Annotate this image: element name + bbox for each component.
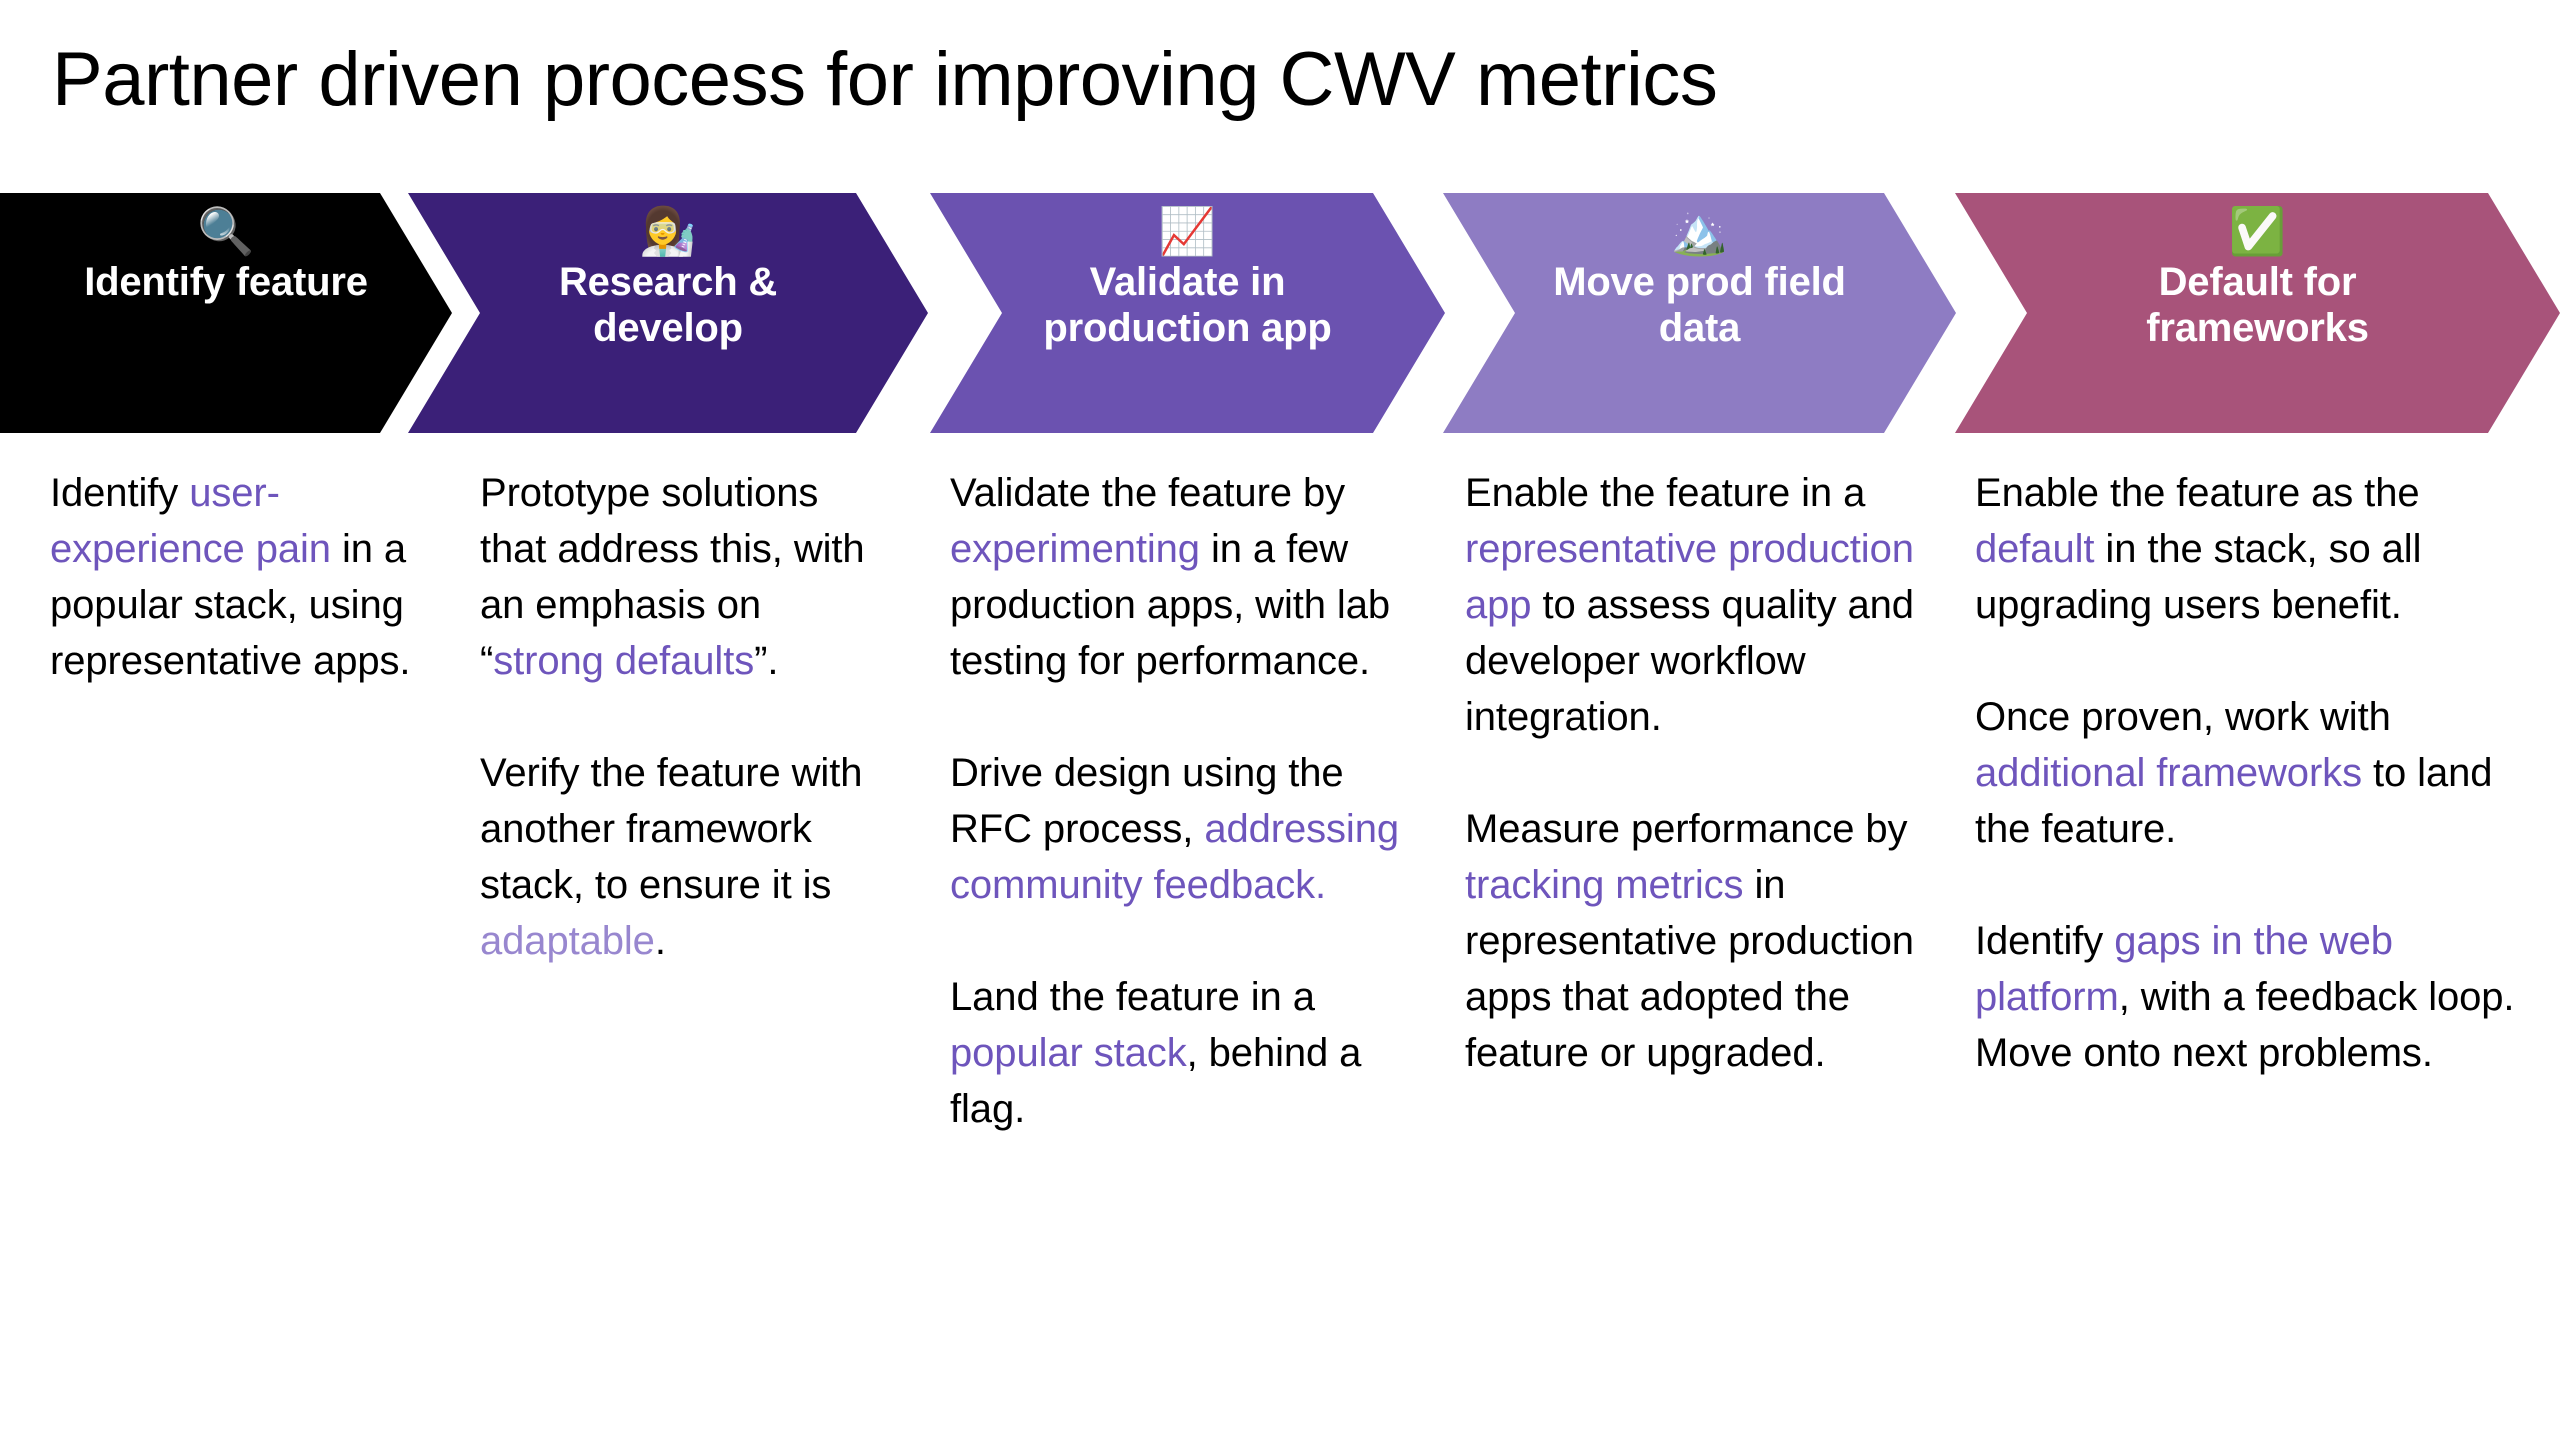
description-column-default-for-frameworks: Enable the feature as the default in the… <box>1975 465 2520 1081</box>
description-paragraph: Validate the feature by experimenting in… <box>950 465 1430 689</box>
magnifying-glass-icon: 🔍 <box>197 205 254 257</box>
process-step-label: Research & develop <box>503 259 833 351</box>
description-paragraph: Identify gaps in the web platform, with … <box>1975 913 2520 1081</box>
highlight-text: tracking metrics <box>1465 863 1743 907</box>
snow-capped-mountain-icon: 🏔️ <box>1671 205 1728 257</box>
body-text: Land the feature in a <box>950 975 1315 1019</box>
body-text: to assess quality and developer workflow… <box>1465 583 1914 739</box>
description-column-identify-feature: Identify user-experience pain in a popul… <box>50 465 460 689</box>
process-step-move-prod-field-data[interactable]: 🏔️Move prod field data <box>1443 193 1956 433</box>
body-text: Measure performance by <box>1465 807 1907 851</box>
process-step-label: Default for frameworks <box>2093 259 2423 351</box>
check-mark-button-icon: ✅ <box>2229 205 2286 257</box>
process-step-label: Identify feature <box>74 259 378 305</box>
woman-scientist-icon: 👩‍🔬 <box>639 205 696 257</box>
description-paragraph: Land the feature in a popular stack, beh… <box>950 969 1430 1137</box>
description-paragraph: Enable the feature in a representative p… <box>1465 465 1925 745</box>
process-step-label: Move prod field data <box>1535 259 1865 351</box>
slide-root: Partner driven process for improving CWV… <box>0 0 2560 1440</box>
process-step-validate-in-production-app[interactable]: 📈Validate in production app <box>930 193 1445 433</box>
process-chevron-band: 🔍Identify feature👩‍🔬Research & develop📈V… <box>0 193 2560 433</box>
description-paragraph: Identify user-experience pain in a popul… <box>50 465 460 689</box>
body-text: Validate the feature by <box>950 471 1345 515</box>
highlight-text-light: adaptable <box>480 919 655 963</box>
body-text: Enable the feature in a <box>1465 471 1865 515</box>
description-paragraph: Once proven, work with additional framew… <box>1975 689 2520 857</box>
description-paragraph: Measure performance by tracking metrics … <box>1465 801 1925 1081</box>
process-step-default-for-frameworks[interactable]: ✅Default for frameworks <box>1955 193 2560 433</box>
body-text: Once proven, work with <box>1975 695 2391 739</box>
description-paragraph: Enable the feature as the default in the… <box>1975 465 2520 633</box>
body-text: . <box>655 919 666 963</box>
description-column-move-prod-field-data: Enable the feature in a representative p… <box>1465 465 1925 1081</box>
description-column-research-develop: Prototype solutions that address this, w… <box>480 465 875 969</box>
page-title: Partner driven process for improving CWV… <box>52 32 1717 128</box>
highlight-text: experimenting <box>950 527 1200 571</box>
body-text: Identify <box>1975 919 2114 963</box>
chart-increasing-icon: 📈 <box>1159 205 1216 257</box>
description-column-validate-in-production-app: Validate the feature by experimenting in… <box>950 465 1430 1137</box>
highlight-text: default <box>1975 527 2094 571</box>
description-paragraph: Drive design using the RFC process, addr… <box>950 745 1430 913</box>
process-step-research-develop[interactable]: 👩‍🔬Research & develop <box>408 193 928 433</box>
body-text: Verify the feature with another framewor… <box>480 751 862 907</box>
description-paragraph: Prototype solutions that address this, w… <box>480 465 875 689</box>
highlight-text: strong defaults <box>493 639 754 683</box>
body-text: Identify <box>50 471 189 515</box>
body-text: ”. <box>754 639 778 683</box>
process-step-label: Validate in production app <box>1023 259 1353 351</box>
body-text: Enable the feature as the <box>1975 471 2420 515</box>
process-description-columns: Identify user-experience pain in a popul… <box>0 465 2560 1365</box>
highlight-text: popular stack <box>950 1031 1187 1075</box>
description-paragraph: Verify the feature with another framewor… <box>480 745 875 969</box>
highlight-text: additional frameworks <box>1975 751 2362 795</box>
process-step-identify-feature[interactable]: 🔍Identify feature <box>0 193 452 433</box>
